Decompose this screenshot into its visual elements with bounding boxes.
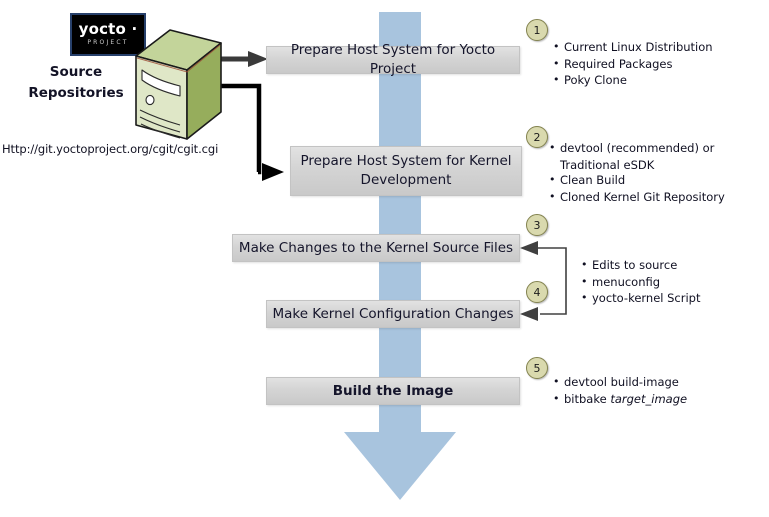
bitbake-command-prefix: bitbake bbox=[564, 392, 610, 406]
step-2-box-label-line1: Prepare Host System for Kernel bbox=[300, 152, 511, 171]
step-5-box[interactable]: Build the Image bbox=[266, 377, 520, 405]
step-2-box[interactable]: Prepare Host System for Kernel Developme… bbox=[290, 146, 522, 196]
list-item: Edits to source bbox=[580, 258, 765, 274]
server-icon bbox=[128, 26, 224, 148]
arrowhead-step2 bbox=[262, 163, 284, 181]
step-4-number: 4 bbox=[534, 286, 541, 299]
list-item: Current Linux Distribution bbox=[552, 40, 764, 56]
list-item-continuation: Traditional eSDK bbox=[548, 158, 766, 174]
arrowhead-step4 bbox=[520, 307, 538, 321]
list-item: bitbake target_image bbox=[552, 392, 764, 408]
step-1-box-label: Prepare Host System for Yocto Project bbox=[267, 41, 519, 79]
list-item: Clean Build bbox=[548, 173, 766, 189]
list-item: Cloned Kernel Git Repository bbox=[548, 190, 766, 206]
step-4-box[interactable]: Make Kernel Configuration Changes bbox=[266, 300, 520, 328]
step-1-box[interactable]: Prepare Host System for Yocto Project bbox=[266, 46, 520, 74]
step-3-box[interactable]: Make Changes to the Kernel Source Files bbox=[232, 234, 520, 262]
bitbake-target-placeholder: target_image bbox=[610, 392, 687, 406]
list-item: Poky Clone bbox=[552, 73, 764, 89]
step-3-box-label: Make Changes to the Kernel Source Files bbox=[239, 239, 513, 258]
step-3-number-badge: 3 bbox=[526, 214, 548, 236]
arrowhead-step3 bbox=[520, 241, 538, 255]
source-label-line2: Repositories bbox=[12, 83, 140, 104]
step-4-box-label: Make Kernel Configuration Changes bbox=[272, 305, 513, 324]
step-5-box-label: Build the Image bbox=[333, 382, 453, 401]
step-2-bullet-list: devtool (recommended) or Traditional eSD… bbox=[548, 141, 766, 206]
step-1-number-badge: 1 bbox=[526, 19, 548, 41]
step-2-number: 2 bbox=[534, 131, 541, 144]
step-4-number-badge: 4 bbox=[526, 281, 548, 303]
step-3-number: 3 bbox=[534, 219, 541, 232]
list-item: devtool (recommended) or bbox=[548, 141, 766, 157]
step-1-number: 1 bbox=[534, 24, 541, 37]
step-2-box-label-line2: Development bbox=[361, 171, 452, 190]
source-label-line1: Source bbox=[12, 62, 140, 83]
source-repository-url[interactable]: Http://git.yoctoproject.org/cgit/cgit.cg… bbox=[2, 142, 232, 156]
workflow-diagram: yocto · PROJECT Source Repositories Http… bbox=[0, 0, 769, 517]
step-2-number-badge: 2 bbox=[526, 126, 548, 148]
list-item: devtool build-image bbox=[552, 375, 764, 391]
list-item: yocto-kernel Script bbox=[580, 291, 765, 307]
list-item: Required Packages bbox=[552, 57, 764, 73]
list-item: menuconfig bbox=[580, 275, 765, 291]
step-1-bullet-list: Current Linux Distribution Required Pack… bbox=[552, 40, 764, 90]
down-arrowhead bbox=[344, 432, 456, 500]
step-5-number-badge: 5 bbox=[526, 357, 548, 379]
source-repositories-label: Source Repositories bbox=[12, 62, 140, 104]
step-5-number: 5 bbox=[534, 362, 541, 375]
steps-3-4-shared-bullet-list: Edits to source menuconfig yocto-kernel … bbox=[580, 258, 765, 308]
arrowhead-step1 bbox=[248, 51, 268, 67]
step-5-bullet-list: devtool build-image bitbake target_image bbox=[552, 375, 764, 408]
